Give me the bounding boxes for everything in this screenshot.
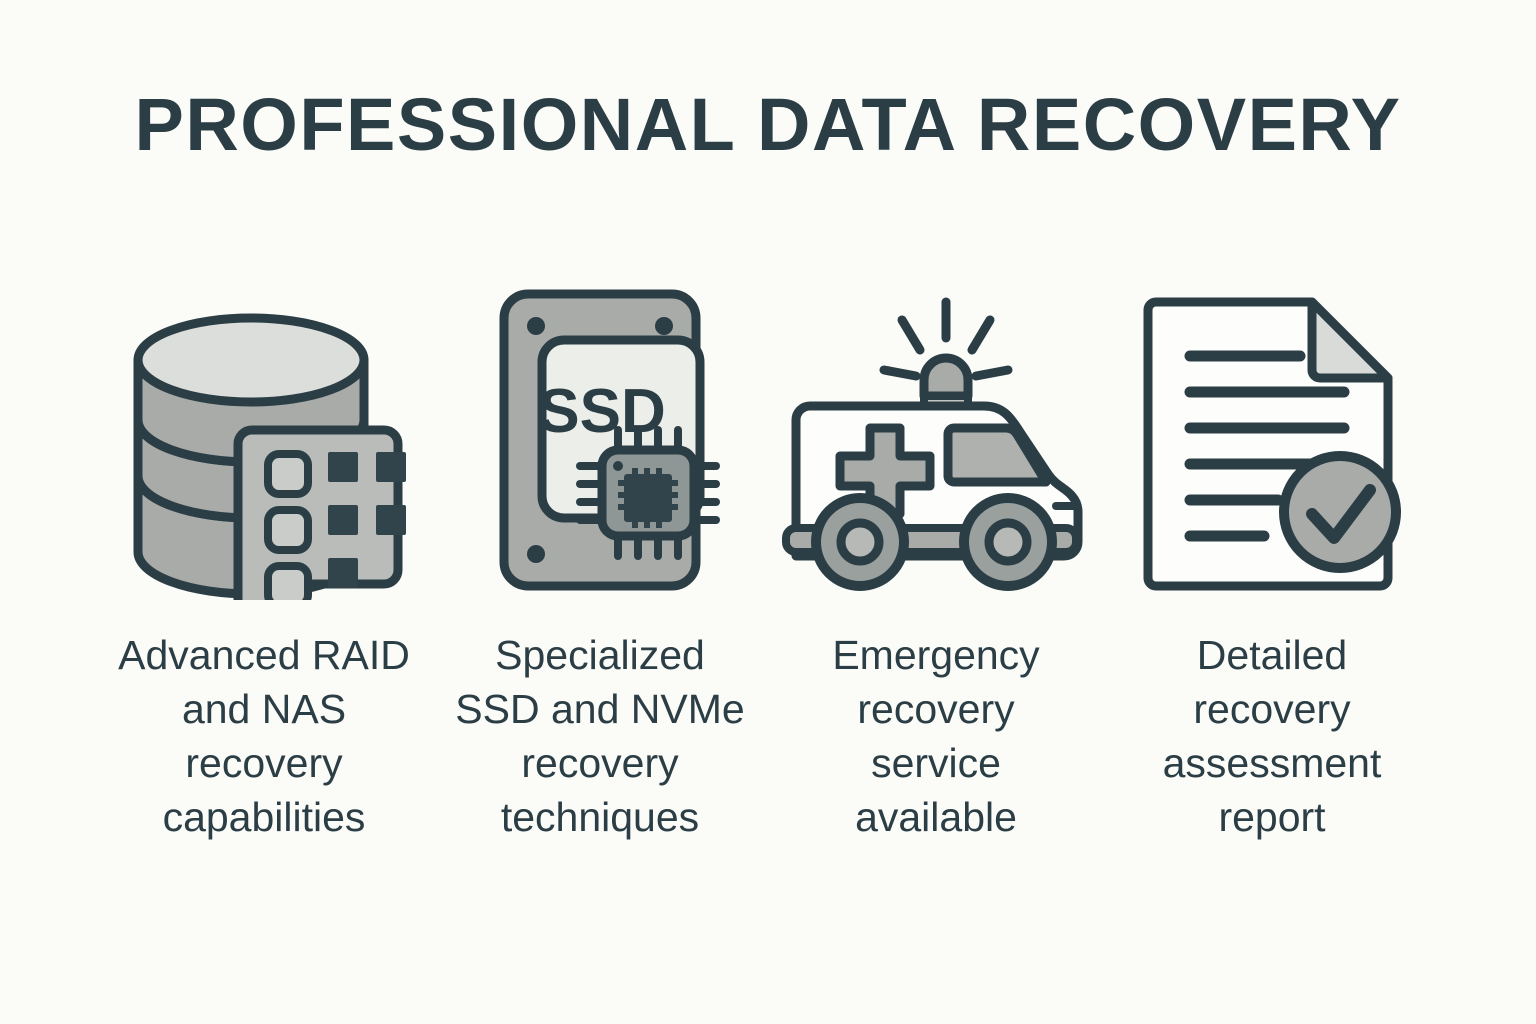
caption-line: service (786, 736, 1086, 790)
ssd-drive-icon-box: SSD (432, 280, 768, 600)
caption-line: Emergency (786, 628, 1086, 682)
caption-line: recovery (1122, 682, 1422, 736)
ssd-drive-icon: SSD (432, 280, 768, 600)
caption-line: SSD and NVMe (450, 682, 750, 736)
caption-line: Advanced RAID (114, 628, 414, 682)
caption-line: capabilities (114, 790, 414, 844)
feature-column-emergency: Emergency recovery service available (768, 280, 1104, 844)
feature-caption-report: Detailed recovery assessment report (1122, 628, 1422, 844)
feature-caption-raid: Advanced RAID and NAS recovery capabilit… (114, 628, 414, 844)
nas-panel (238, 430, 398, 600)
page-title: PROFESSIONAL DATA RECOVERY (0, 88, 1536, 162)
caption-line: assessment (1122, 736, 1422, 790)
caption-line: recovery (450, 736, 750, 790)
feature-columns: Advanced RAID and NAS recovery capabilit… (96, 280, 1440, 844)
microchip-pin1-dot (613, 461, 623, 471)
document-check-report-icon (1104, 280, 1440, 600)
feature-column-raid: Advanced RAID and NAS recovery capabilit… (96, 280, 432, 844)
caption-line: recovery (114, 736, 414, 790)
feature-column-ssd: SSD (432, 280, 768, 844)
caption-line: and NAS (114, 682, 414, 736)
caption-line: Detailed (1122, 628, 1422, 682)
ambulance-emergency-icon (768, 280, 1104, 600)
raid-nas-storage-icon (96, 280, 432, 600)
ambulance-window (948, 428, 1046, 482)
feature-caption-ssd: Specialized SSD and NVMe recovery techni… (450, 628, 750, 844)
drive-bays (268, 454, 308, 600)
feature-caption-emergency: Emergency recovery service available (786, 628, 1086, 844)
approval-seal (1284, 456, 1396, 568)
siren-dome (924, 358, 968, 396)
document-check-report-icon-box (1104, 280, 1440, 600)
caption-line: recovery (786, 682, 1086, 736)
microchip-die (618, 468, 678, 528)
feature-column-report: Detailed recovery assessment report (1104, 280, 1440, 844)
document-fold-corner (1312, 302, 1388, 378)
ssd-label-text: SSD (538, 377, 665, 446)
caption-line: techniques (450, 790, 750, 844)
caption-line: available (786, 790, 1086, 844)
raid-nas-storage-icon-box (96, 280, 432, 600)
infographic-page: PROFESSIONAL DATA RECOVERY (0, 0, 1536, 1024)
ambulance-emergency-icon-box (768, 280, 1104, 600)
caption-line: report (1122, 790, 1422, 844)
caption-line: Specialized (450, 628, 750, 682)
